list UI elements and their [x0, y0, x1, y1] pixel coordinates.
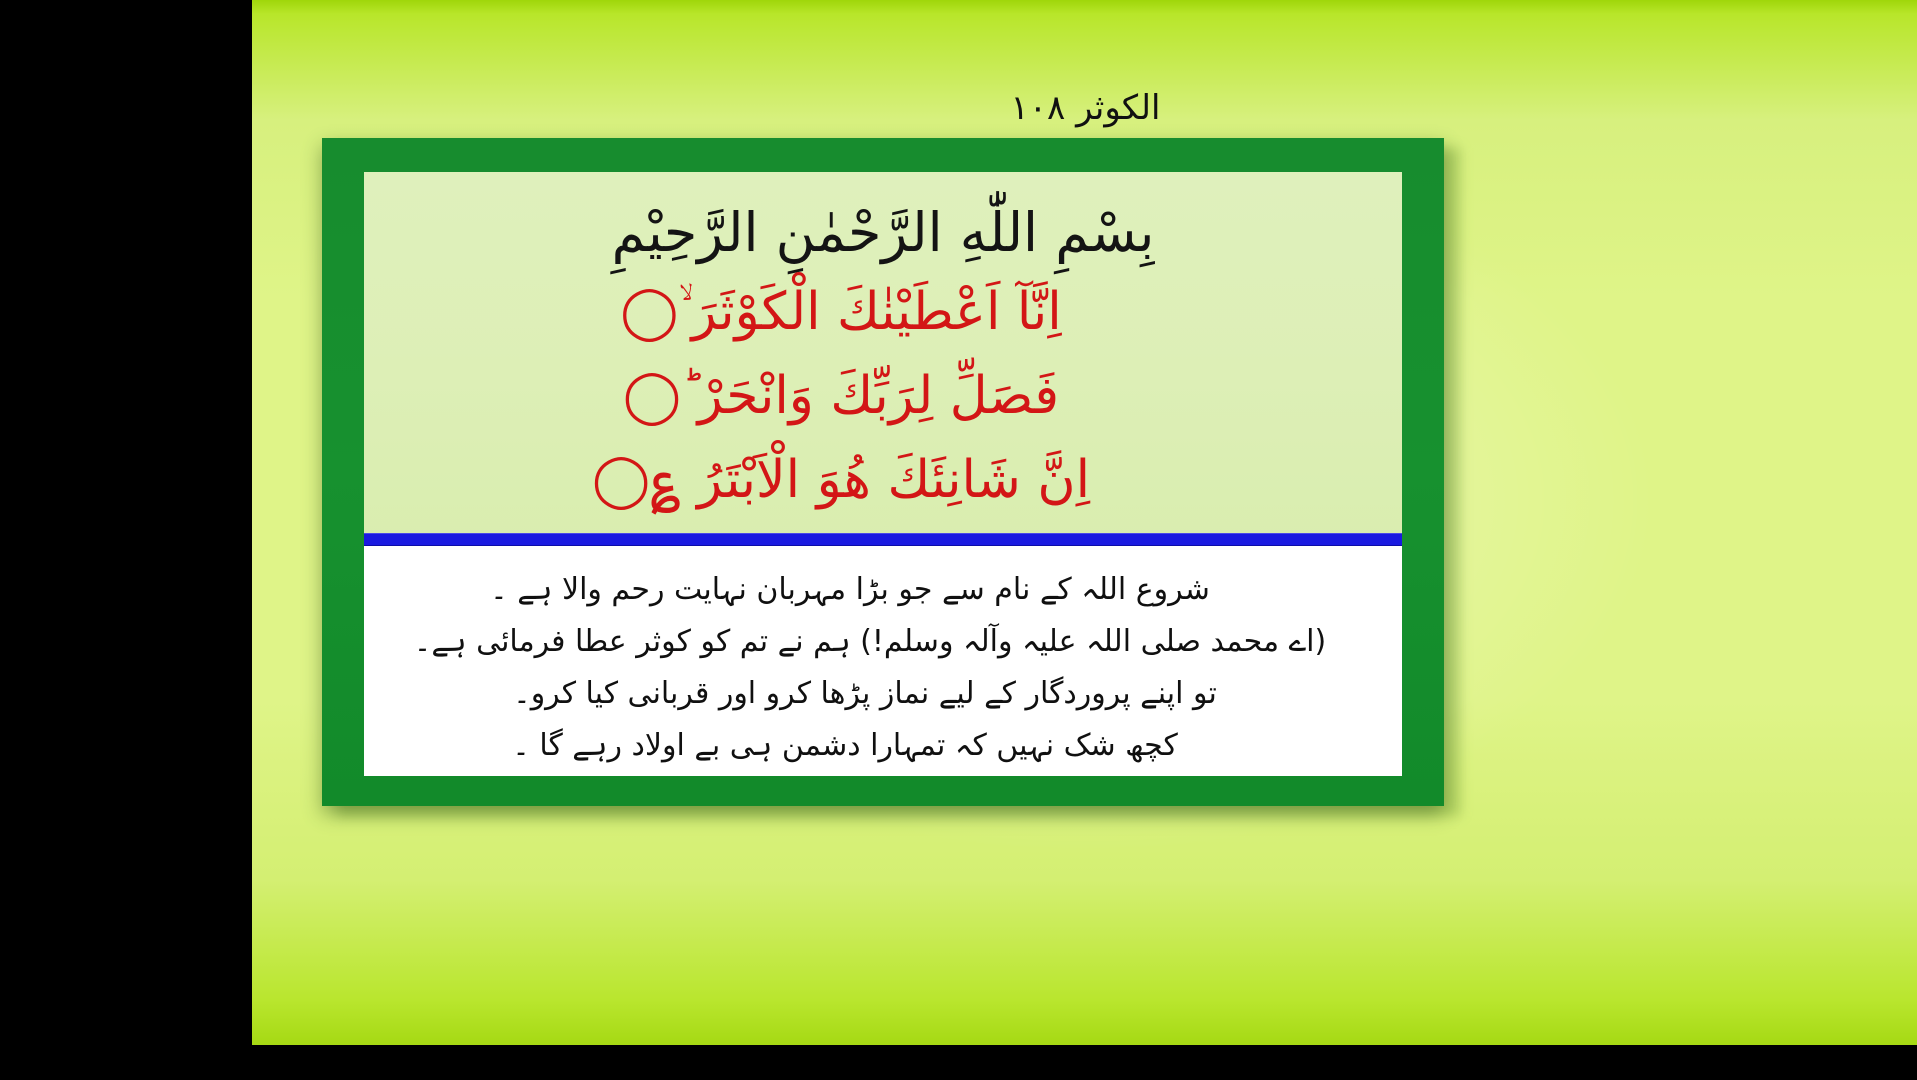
video-frame: الكوثر ١٠٨ بِسْمِ اللّٰهِ الرَّحْمٰنِ ال… [0, 0, 1917, 1080]
bottom-letterbox [252, 1045, 1917, 1063]
ayah-2: فَصَلِّ لِرَبِّكَ وَانْحَرْ ؕ◯ [364, 354, 1402, 438]
surah-title: الكوثر ١٠٨ [252, 86, 1917, 130]
slide-background: الكوثر ١٠٨ بِسْمِ اللّٰهِ الرَّحْمٰنِ ال… [252, 0, 1917, 1063]
arabic-text-zone: بِسْمِ اللّٰهِ الرَّحْمٰنِ الرَّحِيْمِ ا… [364, 172, 1402, 546]
urdu-line-1: شروع اللہ کے نام سے جو بڑا مہربان نہایت … [404, 564, 1346, 616]
urdu-line-2: (اے محمد صلی اللہ علیہ وآلہ وسلم!) ہم نے… [404, 616, 1346, 668]
scripture-panel: بِسْمِ اللّٰهِ الرَّحْمٰنِ الرَّحِيْمِ ا… [322, 138, 1444, 806]
urdu-translation-zone: شروع اللہ کے نام سے جو بڑا مہربان نہایت … [364, 546, 1402, 776]
section-divider [364, 533, 1402, 546]
urdu-line-3: تو اپنے پروردگار کے لیے نماز پڑھا کرو او… [404, 668, 1346, 720]
ayah-3: اِنَّ شَانِئَكَ هُوَ الْاَبْتَرُ ؏◯ [364, 438, 1402, 522]
panel-body: بِسْمِ اللّٰهِ الرَّحْمٰنِ الرَّحِيْمِ ا… [364, 172, 1402, 776]
bismillah-line: بِسْمِ اللّٰهِ الرَّحْمٰنِ الرَّحِيْمِ [364, 196, 1402, 270]
urdu-line-4: کچھ شک نہیں کہ تمہارا دشمن ہی بے اولاد ر… [404, 720, 1346, 772]
ayah-1: اِنَّآ اَعْطَيْنٰكَ الْكَوْثَرَ ۙ◯ [364, 270, 1402, 354]
